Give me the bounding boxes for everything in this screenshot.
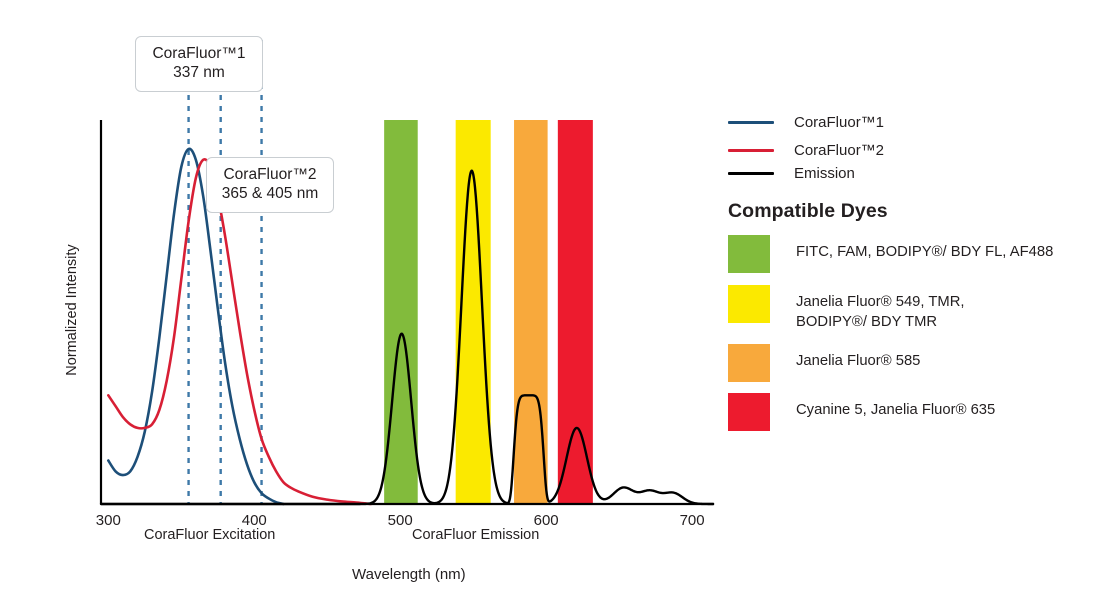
legend-label: CoraFluor™1 bbox=[794, 114, 884, 131]
dye-label: Cyanine 5, Janelia Fluor® 635 bbox=[796, 393, 995, 421]
legend-label: CoraFluor™2 bbox=[794, 142, 884, 159]
emission-range-label: CoraFluor Emission bbox=[412, 527, 539, 543]
legend-item-corafluor-2: CoraFluor™2 bbox=[728, 141, 884, 159]
legend-swatch-line bbox=[728, 172, 774, 175]
callout-2-line2: 365 & 405 nm bbox=[219, 184, 321, 203]
chart-plot-area: Normalized Intensity Wavelength (nm) Cor… bbox=[0, 0, 720, 612]
dye-label: FITC, FAM, BODIPY®/ BDY FL, AF488 bbox=[796, 235, 1053, 263]
legend-swatch-line bbox=[728, 149, 774, 152]
dye-color-swatch bbox=[728, 393, 770, 431]
compatible-dyes-heading: Compatible Dyes bbox=[728, 200, 888, 223]
dye-label: Janelia Fluor® 585 bbox=[796, 344, 920, 372]
x-tick-label: 700 bbox=[680, 512, 705, 529]
dye-item-red: Cyanine 5, Janelia Fluor® 635 bbox=[728, 393, 995, 431]
emission-band bbox=[384, 120, 418, 504]
x-tick-label: 400 bbox=[242, 512, 267, 529]
dye-item-yellow: Janelia Fluor® 549, TMR, BODIPY®/ BDY TM… bbox=[728, 285, 965, 333]
callout-1-line2: 337 nm bbox=[148, 63, 250, 82]
dye-item-orange: Janelia Fluor® 585 bbox=[728, 344, 920, 382]
x-axis-title: Wavelength (nm) bbox=[352, 566, 466, 583]
x-tick-label: 500 bbox=[388, 512, 413, 529]
callout-corafluor-1: CoraFluor™1 337 nm bbox=[135, 36, 263, 92]
legend-item-emission: Emission bbox=[728, 164, 855, 182]
x-tick-label: 600 bbox=[534, 512, 559, 529]
legend-panel: CoraFluor™1 CoraFluor™2 Emission Compati… bbox=[728, 0, 1110, 612]
legend-item-corafluor-1: CoraFluor™1 bbox=[728, 113, 884, 131]
dye-color-swatch bbox=[728, 344, 770, 382]
legend-swatch-line bbox=[728, 121, 774, 124]
callout-1-line1: CoraFluor™1 bbox=[148, 44, 250, 63]
x-tick-label: 300 bbox=[96, 512, 121, 529]
callout-2-line1: CoraFluor™2 bbox=[219, 165, 321, 184]
dye-color-swatch bbox=[728, 235, 770, 273]
y-axis-title: Normalized Intensity bbox=[64, 220, 80, 400]
dye-label: Janelia Fluor® 549, TMR, BODIPY®/ BDY TM… bbox=[796, 285, 965, 333]
callout-corafluor-2: CoraFluor™2 365 & 405 nm bbox=[206, 157, 334, 213]
dye-color-swatch bbox=[728, 285, 770, 323]
legend-label: Emission bbox=[794, 165, 855, 182]
figure-root: Normalized Intensity Wavelength (nm) Cor… bbox=[0, 0, 1110, 612]
emission-band bbox=[558, 120, 593, 504]
excitation-range-label: CoraFluor Excitation bbox=[144, 527, 275, 543]
dye-item-green: FITC, FAM, BODIPY®/ BDY FL, AF488 bbox=[728, 235, 1053, 273]
